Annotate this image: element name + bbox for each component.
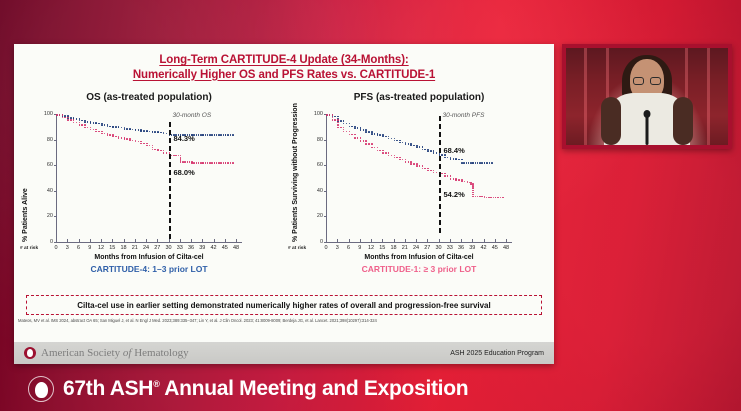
x-axis-tick	[180, 239, 181, 242]
series-point	[149, 145, 151, 147]
series-point	[472, 190, 474, 192]
presentation-slide: Long-Term CARTITUDE-4 Update (34-Months)…	[14, 44, 554, 364]
glasses-icon	[633, 77, 661, 85]
series-point	[152, 149, 154, 151]
series-point	[405, 159, 407, 161]
x-axis-tick-label: 15	[376, 245, 388, 251]
y-axis-title: % Patients Alive	[22, 188, 29, 242]
series-point	[349, 123, 351, 125]
series-point	[343, 129, 345, 131]
series-point	[450, 158, 452, 160]
series-point	[427, 150, 429, 152]
x-axis-tick	[450, 239, 451, 242]
series-point	[121, 137, 123, 139]
series-point	[115, 136, 117, 138]
series-point	[441, 173, 443, 175]
microphone-icon	[646, 115, 649, 145]
series-point	[79, 124, 81, 126]
series-point	[475, 196, 477, 198]
series-point	[416, 165, 418, 167]
x-axis-tick-label: 48	[500, 245, 512, 251]
y-axis-tick-label: 40	[309, 188, 323, 194]
series-point	[211, 162, 213, 164]
series-point	[104, 133, 106, 135]
series-point	[220, 134, 222, 136]
y-axis-tick	[324, 165, 327, 166]
series-point	[450, 175, 452, 177]
cohort-label: CARTITUDE-1: ≥ 3 prior LOT	[284, 264, 554, 274]
chart-pfs-title: PFS (as-treated population)	[284, 92, 554, 103]
series-point	[436, 172, 438, 174]
series-point	[129, 140, 131, 142]
series-point	[472, 192, 474, 194]
x-axis-line	[326, 242, 512, 243]
series-point	[225, 162, 227, 164]
series-point	[360, 137, 362, 139]
y-axis-tick	[324, 140, 327, 141]
value-annotation-cartitude-1: 54.2%	[444, 190, 465, 199]
x-axis-tick-label: 6	[343, 245, 355, 251]
x-axis-tick	[56, 239, 57, 242]
x-axis-tick-label: 42	[478, 245, 490, 251]
x-axis-tick-label: 45	[219, 245, 231, 251]
series-point	[67, 117, 69, 119]
series-point	[95, 129, 97, 131]
series-point	[154, 131, 156, 133]
series-point	[118, 137, 120, 139]
series-point	[143, 130, 145, 132]
series-point	[450, 178, 452, 180]
series-point	[382, 136, 384, 138]
series-point	[472, 187, 474, 189]
series-point	[365, 140, 367, 142]
series-point	[225, 134, 227, 136]
x-axis-tick	[157, 239, 158, 242]
series-point	[93, 129, 95, 131]
series-point	[371, 143, 373, 145]
series-point	[70, 119, 72, 121]
series-point	[351, 134, 353, 136]
series-point	[402, 142, 404, 144]
series-point	[394, 157, 396, 159]
series-point	[193, 162, 195, 164]
series-point	[166, 152, 168, 154]
series-point	[388, 138, 390, 140]
series-point	[154, 149, 156, 151]
series-point	[135, 129, 137, 131]
series-point	[463, 162, 465, 164]
x-axis-tick	[67, 239, 68, 242]
x-axis-tick-label: 27	[421, 245, 433, 251]
series-point	[175, 155, 177, 157]
series-point	[81, 124, 83, 126]
series-point	[349, 126, 351, 128]
y-axis-tick-label: 40	[39, 188, 53, 194]
series-point	[337, 127, 339, 129]
x-axis-tick	[202, 239, 203, 242]
series-point	[436, 152, 438, 154]
series-point	[346, 123, 348, 125]
series-point	[187, 161, 189, 163]
series-point	[112, 136, 114, 138]
x-axis-tick	[461, 239, 462, 242]
series-point	[104, 124, 106, 126]
ash-seal-icon	[28, 376, 54, 402]
series-point	[202, 162, 204, 164]
series-point	[391, 155, 393, 157]
x-axis-tick	[337, 239, 338, 242]
series-point	[101, 124, 103, 126]
series-point	[84, 127, 86, 129]
series-point	[205, 162, 207, 164]
cohort-label: CARTITUDE-4: 1–3 prior LOT	[14, 264, 284, 274]
x-axis-tick	[506, 239, 507, 242]
series-point	[157, 132, 159, 134]
series-point	[472, 162, 474, 164]
series-point	[152, 131, 154, 133]
series-point	[374, 133, 376, 135]
series-point	[427, 170, 429, 172]
x-axis-tick	[495, 239, 496, 242]
series-point	[223, 134, 225, 136]
series-point	[458, 179, 460, 181]
y-axis-line	[56, 114, 57, 243]
x-axis-tick-label: 39	[196, 245, 208, 251]
series-point	[227, 162, 229, 164]
series-point	[374, 147, 376, 149]
y-axis-title: % Patients Surviving without Progression	[292, 103, 299, 242]
series-point	[481, 162, 483, 164]
series-point	[81, 120, 83, 122]
y-axis-tick	[54, 140, 57, 141]
x-axis-tick-label: 18	[118, 245, 130, 251]
x-axis-tick	[214, 239, 215, 242]
x-axis-tick	[427, 239, 428, 242]
series-point	[486, 162, 488, 164]
series-point	[422, 165, 424, 167]
series-point	[135, 141, 137, 143]
series-point	[422, 149, 424, 151]
series-point	[184, 161, 186, 163]
series-point	[408, 143, 410, 145]
series-point	[419, 146, 421, 148]
series-point	[101, 133, 103, 135]
series-point	[405, 143, 407, 145]
series-point	[349, 134, 351, 136]
series-point	[329, 114, 331, 116]
series-point	[343, 131, 345, 133]
series-point	[90, 122, 92, 124]
series-point	[160, 150, 162, 152]
series-point	[424, 149, 426, 151]
slide-footer-program: ASH 2025 Education Program	[450, 350, 544, 357]
series-point	[129, 129, 131, 131]
series-point	[138, 141, 140, 143]
x-axis-tick-label: 36	[185, 245, 197, 251]
series-point	[453, 158, 455, 160]
series-point	[500, 197, 502, 199]
series-point	[354, 127, 356, 129]
value-annotation-cartitude-4: 68.4%	[444, 146, 465, 155]
series-point	[461, 159, 463, 161]
series-point	[408, 161, 410, 163]
series-point	[76, 122, 78, 124]
x-axis-tick-label: 42	[208, 245, 220, 251]
x-axis-tick-label: 21	[129, 245, 141, 251]
x-axis-tick	[135, 239, 136, 242]
series-point	[433, 170, 435, 172]
series-point	[379, 150, 381, 152]
series-point	[466, 162, 468, 164]
x-axis-tick-label: 6	[73, 245, 85, 251]
series-point	[64, 117, 66, 119]
series-point	[196, 134, 198, 136]
series-point	[484, 197, 486, 199]
event-banner: 67th ASH® Annual Meeting and Exposition	[0, 367, 741, 411]
series-point	[140, 130, 142, 132]
series-point	[484, 162, 486, 164]
series-point	[230, 134, 232, 136]
series-point	[399, 142, 401, 144]
slide-title: Long-Term CARTITUDE-4 Update (34-Months)…	[14, 44, 554, 82]
series-point	[430, 150, 432, 152]
series-point	[388, 152, 390, 154]
series-point	[205, 134, 207, 136]
series-point	[232, 134, 234, 136]
x-axis-tick-label: 9	[354, 245, 366, 251]
x-axis-tick	[484, 239, 485, 242]
series-point	[93, 122, 95, 124]
x-axis-tick	[191, 239, 192, 242]
series-point	[126, 128, 128, 130]
x-axis-line	[56, 242, 242, 243]
x-axis-tick	[112, 239, 113, 242]
series-point	[388, 155, 390, 157]
stage-pillar-icon	[707, 48, 710, 145]
series-point	[337, 122, 339, 124]
x-axis-tick-label: 15	[106, 245, 118, 251]
y-axis-tick	[324, 216, 327, 217]
x-axis-tick-label: 27	[151, 245, 163, 251]
y-axis-tick	[54, 191, 57, 192]
series-point	[87, 127, 89, 129]
series-point	[444, 175, 446, 177]
series-point	[152, 147, 154, 149]
banner-title: 67th ASH® Annual Meeting and Exposition	[63, 377, 468, 401]
series-point	[214, 134, 216, 136]
series-point	[410, 163, 412, 165]
series-point	[124, 138, 126, 140]
series-point	[118, 127, 120, 129]
series-point	[502, 197, 504, 199]
series-point	[332, 119, 334, 121]
series-point	[489, 162, 491, 164]
series-point	[220, 162, 222, 164]
series-point	[467, 182, 469, 184]
series-point	[76, 118, 78, 120]
x-axis-tick	[405, 239, 406, 242]
series-point	[140, 143, 142, 145]
series-point	[95, 123, 97, 125]
x-axis-tick	[124, 239, 125, 242]
x-axis-tick-label: 0	[50, 245, 62, 251]
series-point	[121, 127, 123, 129]
series-point	[402, 159, 404, 161]
x-axis-tick	[394, 239, 395, 242]
series-point	[394, 140, 396, 142]
x-axis-tick	[236, 239, 237, 242]
x-axis-tick-label: 36	[455, 245, 467, 251]
x-axis-tick	[326, 239, 327, 242]
series-point	[146, 145, 148, 147]
y-axis-tick-label: 100	[309, 111, 323, 117]
y-axis-tick-label: 100	[39, 111, 53, 117]
series-point	[90, 129, 92, 131]
series-point	[354, 137, 356, 139]
x-axis-tick-label: 3	[331, 245, 343, 251]
series-point	[413, 163, 415, 165]
series-point	[163, 133, 165, 135]
series-point	[461, 181, 463, 183]
series-point	[334, 119, 336, 121]
series-point	[87, 121, 89, 123]
series-point	[447, 157, 449, 159]
y-axis-tick	[54, 216, 57, 217]
series-point	[163, 152, 165, 154]
series-point	[447, 175, 449, 177]
x-axis-tick	[472, 239, 473, 242]
series-point	[227, 134, 229, 136]
series-point	[132, 140, 134, 142]
series-point	[399, 140, 401, 142]
x-axis-tick	[90, 239, 91, 242]
x-axis-tick-label: 33	[174, 245, 186, 251]
series-point	[354, 134, 356, 136]
series-point	[365, 143, 367, 145]
x-axis-tick-label: 3	[61, 245, 73, 251]
x-axis-title: Months from Infusion of Cilta-cel	[14, 254, 284, 261]
x-axis-tick	[101, 239, 102, 242]
series-point	[455, 179, 457, 181]
y-axis-tick-label: 60	[309, 162, 323, 168]
series-point	[368, 131, 370, 133]
y-axis-tick-label: 60	[39, 162, 53, 168]
series-point	[160, 132, 162, 134]
series-point	[385, 136, 387, 138]
x-axis-tick	[416, 239, 417, 242]
series-point	[365, 131, 367, 133]
speaker-video-panel[interactable]	[562, 44, 732, 149]
slide-title-line1: Long-Term CARTITUDE-4 Update (34-Months)…	[14, 53, 554, 68]
registered-mark: ®	[153, 379, 159, 389]
series-point	[493, 197, 495, 199]
series-point	[481, 196, 483, 198]
series-point	[230, 162, 232, 164]
series-point	[368, 143, 370, 145]
series-point	[371, 133, 373, 135]
series-point	[340, 127, 342, 129]
series-point	[410, 145, 412, 147]
series-point	[382, 152, 384, 154]
series-point	[416, 146, 418, 148]
series-point	[396, 140, 398, 142]
series-point	[343, 123, 345, 125]
series-point	[73, 119, 75, 121]
y-axis-tick	[54, 242, 57, 243]
series-point	[413, 145, 415, 147]
series-point	[343, 120, 345, 122]
series-point	[157, 150, 159, 152]
series-point	[433, 172, 435, 174]
series-point	[379, 134, 381, 136]
ash-footer-org: American Society of Hematology	[41, 347, 189, 359]
series-point	[349, 131, 351, 133]
marker-note: 30-month OS	[173, 112, 212, 119]
y-axis-tick-label: 80	[39, 137, 53, 143]
series-point	[472, 196, 474, 198]
x-axis-tick-label: 9	[84, 245, 96, 251]
series-point	[453, 178, 455, 180]
x-axis-tick-label: 18	[388, 245, 400, 251]
series-point	[84, 124, 86, 126]
series-point	[385, 152, 387, 154]
series-point	[382, 150, 384, 152]
x-axis-tick-label: 24	[410, 245, 422, 251]
speaker-video-frame	[566, 48, 728, 145]
series-point	[430, 170, 432, 172]
x-axis-tick-label: 45	[489, 245, 501, 251]
series-point	[59, 114, 61, 116]
series-point	[152, 145, 154, 147]
series-point	[351, 126, 353, 128]
series-point	[146, 131, 148, 133]
series-point	[419, 165, 421, 167]
series-point	[377, 147, 379, 149]
x-axis-tick	[146, 239, 147, 242]
series-point	[491, 162, 493, 164]
series-point	[62, 114, 64, 116]
x-axis-tick-label: 33	[444, 245, 456, 251]
slide-title-line2: Numerically Higher OS and PFS Rates vs. …	[14, 68, 554, 83]
series-point	[458, 159, 460, 161]
series-point	[84, 121, 86, 123]
x-axis-tick-label: 21	[399, 245, 411, 251]
series-point	[143, 143, 145, 145]
series-point	[377, 134, 379, 136]
value-annotation-cartitude-4: 84.3%	[174, 134, 195, 143]
series-point	[495, 197, 497, 199]
x-axis-tick-label: 12	[365, 245, 377, 251]
series-point	[455, 159, 457, 161]
slide-footer: American Society of Hematology ASH 2025 …	[14, 342, 554, 364]
series-point	[163, 150, 165, 152]
x-axis-tick-label: 24	[140, 245, 152, 251]
y-axis-tick	[324, 242, 327, 243]
series-point	[196, 162, 198, 164]
series-point	[394, 138, 396, 140]
series-point	[475, 162, 477, 164]
series-point	[332, 114, 334, 116]
x-axis-tick	[360, 239, 361, 242]
series-point	[326, 114, 328, 116]
series-point	[56, 114, 58, 116]
series-point	[371, 147, 373, 149]
series-point	[337, 124, 339, 126]
references-text: Mateos, MV et al. IMS 2024, abstract OA …	[18, 318, 552, 323]
stage-pillar-icon	[584, 48, 587, 145]
series-point	[433, 152, 435, 154]
series-point	[166, 133, 168, 135]
